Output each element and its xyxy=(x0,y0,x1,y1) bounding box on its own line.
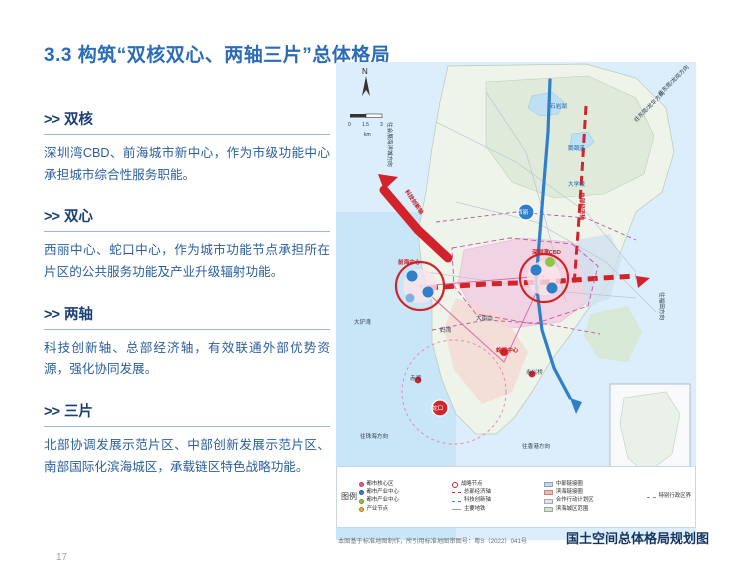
section-block-3: >>三片 北部协调发展示范片区、中部创新发展示范片区、南部国际化滨海城区，承载链… xyxy=(44,400,330,478)
map-place-label-10: 大南山 xyxy=(476,314,493,322)
legend-item-label: 特别行政区界 xyxy=(659,494,691,500)
legend-item: 特别行政区界 xyxy=(647,494,691,500)
section-divider-3 xyxy=(44,426,330,427)
section-body-1: 西丽中心、蛇口中心，作为城市功能节点承担所在片区的公共服务功能及产业升级辐射功能… xyxy=(44,240,330,283)
map-annotation-4: 往珠海方向 xyxy=(360,432,388,440)
legend-swatch-icon xyxy=(452,492,461,493)
map-legend: 图例 都市核心区 都市产业中心 都市产业中心 产业节点 战略节点 总部经济轴 科… xyxy=(336,466,696,528)
legend-item: 滨海城区范围 xyxy=(544,507,593,513)
legend-item: 战略节点 xyxy=(452,482,490,488)
legend-item-label: 都市核心区 xyxy=(367,482,394,488)
legend-swatch-icon xyxy=(544,490,553,495)
map-place-label-3: 西丽 xyxy=(517,208,528,216)
map-place-label-0: 石岩湖 xyxy=(550,102,567,110)
legend-swatch-icon xyxy=(359,482,364,487)
legend-swatch-icon xyxy=(452,509,461,510)
section-title-0: 双核 xyxy=(64,112,93,128)
legend-item-label: 总部经济轴 xyxy=(464,490,491,496)
legend-swatch-icon xyxy=(359,507,364,512)
legend-item-label: 战略节点 xyxy=(461,482,483,488)
map-annotation-5: 往香港方向 xyxy=(522,442,550,450)
map-place-label-7: 赤湾 xyxy=(410,374,421,382)
section-marker-2: >> xyxy=(44,307,59,323)
section-marker-1: >> xyxy=(44,209,59,225)
legend-swatch-icon xyxy=(544,507,553,512)
legend-item-label: 产业节点 xyxy=(367,507,389,513)
section-divider-2 xyxy=(44,329,330,330)
legend-item-label: 滨海城区范围 xyxy=(556,507,588,513)
map-place-label-8: 大铲湾 xyxy=(354,318,371,326)
legend-column-1: 战略节点 总部经济轴 科技创新轴 主要地铁 xyxy=(452,480,490,513)
map-place-label-5: 前海中心 xyxy=(398,258,420,266)
legend-item-label: 中部链接圈 xyxy=(556,482,583,488)
section-block-2: >>两轴 科技创新轴、总部经济轴，有效联通外部优势资源，强化协同发展。 xyxy=(44,303,330,381)
map-place-label-2: 大学城 xyxy=(568,180,585,188)
legend-swatch-icon xyxy=(452,482,458,488)
section-body-2: 科技创新轴、总部经济轴，有效联通外部优势资源，强化协同发展。 xyxy=(44,338,330,381)
section-title-2: 两轴 xyxy=(64,307,93,323)
content-column: >>双核 深圳湾CBD、前海城市新中心，作为市级功能中心承担城市综合性服务职能。… xyxy=(44,108,330,497)
map-place-label-1: 鹅颈溪 xyxy=(568,144,585,152)
section-divider-1 xyxy=(44,231,330,232)
section-heading-2: >>两轴 xyxy=(44,303,330,329)
map-axis-label-1: 总部经济轴 xyxy=(578,192,586,220)
legend-item-label: 滨海链接圈 xyxy=(556,490,583,496)
svg-text:N: N xyxy=(362,67,368,76)
legend-swatch-icon xyxy=(359,490,364,495)
section-title-1: 双心 xyxy=(64,209,93,225)
legend-item: 科技创新轴 xyxy=(452,498,490,504)
legend-swatch-icon xyxy=(647,497,656,498)
map-place-label-9: 妈湾 xyxy=(440,326,451,334)
legend-item-label: 合作行动计划区 xyxy=(556,498,594,504)
legend-column-3: 特别行政区界 xyxy=(647,480,691,513)
map-place-label-11: 蛇口 xyxy=(432,404,443,412)
page-number: 17 xyxy=(56,552,67,563)
section-divider-0 xyxy=(44,134,330,135)
legend-column-2: 中部链接圈 滨海链接圈 合作行动计划区 滨海城区范围 xyxy=(544,480,593,513)
legend-column-0: 都市核心区 都市产业中心 都市产业中心 产业节点 xyxy=(359,480,399,513)
legend-item-label: 都市产业中心 xyxy=(367,490,399,496)
legend-item-label: 科技创新轴 xyxy=(464,498,491,504)
svg-text:km: km xyxy=(364,132,371,138)
map-place-label-4: 深圳湾CBD xyxy=(532,248,561,256)
legend-item: 滨海链接圈 xyxy=(544,490,593,496)
section-heading-3: >>三片 xyxy=(44,400,330,426)
legend-item: 总部经济轴 xyxy=(452,490,490,496)
map-annotation-2: 往会展海洋城方向 xyxy=(386,122,394,167)
legend-item: 都市产业中心 xyxy=(359,490,399,496)
map-caption: 国土空间总体格局规划图 xyxy=(566,528,709,547)
section-block-1: >>双心 西丽中心、蛇口中心，作为城市功能节点承担所在片区的公共服务功能及产业升… xyxy=(44,205,330,283)
map-place-label-12: 永兴桥 xyxy=(526,368,543,376)
legend-item: 产业节点 xyxy=(359,507,399,513)
map-disclaimer: 本图基于标准地图制作，所引用标准地图审图号：粤S（2022）041号 xyxy=(338,536,527,545)
legend-item-label: 都市产业中心 xyxy=(367,498,399,504)
legend-item-label: 主要地铁 xyxy=(464,507,486,513)
section-marker-0: >> xyxy=(44,112,59,128)
section-block-0: >>双核 深圳湾CBD、前海城市新中心，作为市级功能中心承担城市综合性服务职能。 xyxy=(44,108,330,186)
legend-swatch-icon xyxy=(544,499,553,504)
legend-item: 合作行动计划区 xyxy=(544,498,593,504)
legend-item: 中部链接圈 xyxy=(544,482,593,488)
legend-item: 都市核心区 xyxy=(359,482,399,488)
legend-item: 主要地铁 xyxy=(452,507,490,513)
map-place-label-6: 蛇口中心 xyxy=(496,346,518,354)
document-page: 3.3 构筑“双核双心、两轴三片”总体格局 >>双核 深圳湾CBD、前海城市新中… xyxy=(0,0,740,576)
svg-text:1.5: 1.5 xyxy=(362,122,369,128)
section-body-0: 深圳湾CBD、前海城市新中心，作为市级功能中心承担城市综合性服务职能。 xyxy=(44,143,330,186)
section-marker-3: >> xyxy=(44,404,59,420)
section-title-3: 三片 xyxy=(64,404,93,420)
map-annotation-3: 往福田方向 xyxy=(658,292,666,320)
legend-title: 图例 xyxy=(341,492,357,502)
svg-text:0: 0 xyxy=(348,122,351,128)
legend-swatch-icon xyxy=(544,482,553,487)
section-body-3: 北部协调发展示范片区、中部创新发展示范片区、南部国际化滨海城区，承载链区特色战略… xyxy=(44,435,330,478)
svg-text:3: 3 xyxy=(380,122,383,128)
section-heading-1: >>双心 xyxy=(44,205,330,231)
legend-swatch-icon xyxy=(452,501,461,502)
section-heading-0: >>双核 xyxy=(44,108,330,134)
legend-swatch-icon xyxy=(359,499,364,504)
legend-item: 都市产业中心 xyxy=(359,498,399,504)
legend-columns: 都市核心区 都市产业中心 都市产业中心 产业节点 战略节点 总部经济轴 科技创新… xyxy=(357,480,691,513)
